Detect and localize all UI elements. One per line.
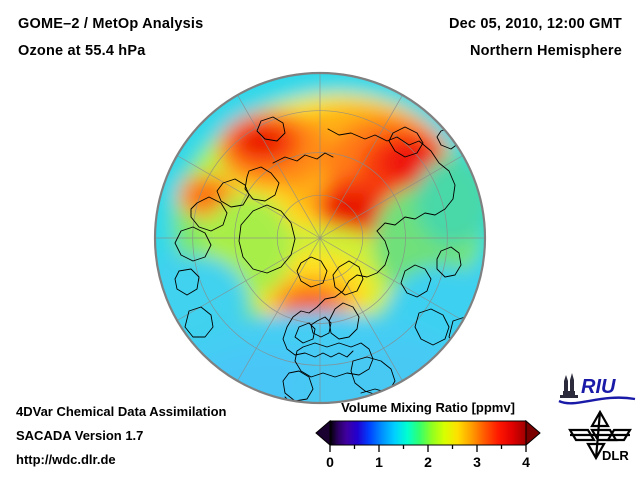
method-label: 4DVar Chemical Data Assimilation xyxy=(16,404,227,419)
visualization-page: GOME–2 / MetOp Analysis Ozone at 55.4 hP… xyxy=(0,0,640,480)
wdc-url-label: http://wdc.dlr.de xyxy=(16,452,116,467)
dlr-wordmark: DLR xyxy=(602,448,629,462)
colorbar-tick-0: 0 xyxy=(326,454,334,470)
cathedral-icon xyxy=(560,373,578,398)
globe-map xyxy=(153,71,487,405)
orthographic-projection-svg xyxy=(153,71,487,405)
riu-wordmark: RIU xyxy=(581,376,616,398)
colorbar-tick-1: 1 xyxy=(375,454,383,470)
hemisphere-label: Northern Hemisphere xyxy=(470,43,622,59)
riu-logo-svg: RIU xyxy=(557,371,637,407)
colorbar-svg: 0 1 2 3 4 xyxy=(312,419,544,471)
colorbar-tick-2: 2 xyxy=(424,454,432,470)
instrument-title: GOME–2 / MetOp Analysis xyxy=(18,16,203,32)
riu-logo: RIU xyxy=(557,371,637,407)
colorbar-low-arrow xyxy=(316,421,330,445)
colorbar-tick-4: 4 xyxy=(522,454,530,470)
colorbar-tick-3: 3 xyxy=(473,454,481,470)
version-label: SACADA Version 1.7 xyxy=(16,428,143,443)
colorbar: Volume Mixing Ratio [ppmv] xyxy=(312,400,544,472)
product-title: Ozone at 55.4 hPa xyxy=(18,43,146,59)
dlr-logo: DLR xyxy=(566,410,634,462)
colorbar-ticks xyxy=(330,445,526,452)
riu-swoosh xyxy=(559,398,635,404)
colorbar-gradient xyxy=(330,421,526,445)
datetime-label: Dec 05, 2010, 12:00 GMT xyxy=(449,16,622,32)
colorbar-high-arrow xyxy=(526,421,540,445)
colorbar-title: Volume Mixing Ratio [ppmv] xyxy=(312,400,544,415)
dlr-logo-svg: DLR xyxy=(566,410,634,462)
